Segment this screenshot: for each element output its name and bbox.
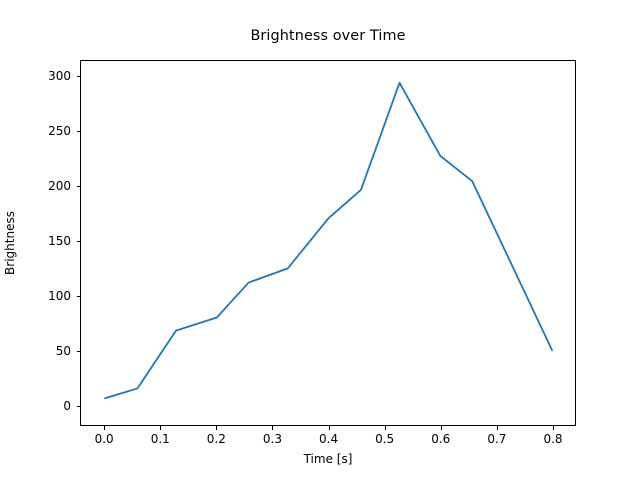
chart-figure: Brightness over Time Brightness Time [s]… [0,0,640,480]
y-tick-label: 0 [63,399,71,413]
y-axis-label-text: Brightness [3,211,17,275]
x-axis-label-text: Time [s] [304,452,353,466]
plot-area [81,61,575,425]
data-series-line [105,83,552,398]
y-tick-label: 300 [48,69,71,83]
y-tick-label: 250 [48,124,71,138]
x-tick-mark [441,426,442,430]
x-tick-mark [385,426,386,430]
x-axis-label: Time [s] [80,452,576,466]
x-tick-mark [216,426,217,430]
y-tick-label: 50 [56,344,71,358]
chart-title-text: Brightness over Time [250,28,405,44]
y-axis-label: Brightness [0,60,20,426]
x-tick-mark [272,426,273,430]
y-tick-label: 200 [48,179,71,193]
y-tick-label: 100 [48,289,71,303]
x-tick-label: 0.7 [487,432,506,446]
x-tick-label: 0.8 [543,432,562,446]
x-tick-label: 0.1 [151,432,170,446]
x-tick-label: 0.2 [207,432,226,446]
x-tick-mark [329,426,330,430]
x-tick-mark [104,426,105,430]
x-tick-label: 0.4 [319,432,338,446]
x-tick-mark [160,426,161,430]
y-tick-label: 150 [48,234,71,248]
x-tick-label: 0.6 [431,432,450,446]
chart-title: Brightness over Time [0,28,640,44]
x-tick-mark [497,426,498,430]
x-tick-label: 0.0 [95,432,114,446]
plot-axes [80,60,576,426]
x-tick-label: 0.5 [375,432,394,446]
x-tick-label: 0.3 [263,432,282,446]
x-tick-mark [553,426,554,430]
